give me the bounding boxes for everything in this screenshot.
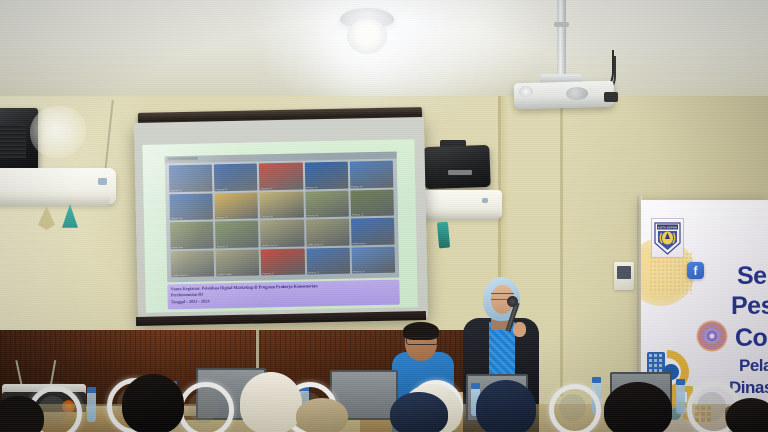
participant-tile: Peserta 06 bbox=[169, 193, 213, 220]
participant-name: Peserta 12 bbox=[262, 272, 274, 275]
audience-head bbox=[726, 398, 768, 432]
participant-name: UMKM Rizki bbox=[352, 242, 365, 245]
program-badge-icon bbox=[698, 322, 726, 350]
participant-name: Peserta 01 bbox=[170, 189, 182, 192]
ac-vent-left bbox=[0, 196, 110, 206]
participant-tile: Peserta 10 bbox=[350, 189, 394, 216]
facebook-icon[interactable]: f bbox=[687, 262, 704, 279]
slide-caption-box: Nama Kegiatan: Pelatihan Digital Marketi… bbox=[167, 280, 399, 310]
participant-tile: Peserta 03 bbox=[259, 163, 303, 190]
svg-text:KOTA DEPOK: KOTA DEPOK bbox=[658, 225, 679, 229]
participant-tile: Peserta 11 bbox=[215, 220, 259, 247]
audience-head-hijab bbox=[476, 380, 536, 432]
projector-lens bbox=[519, 86, 533, 97]
participant-name: Peserta 10 bbox=[352, 213, 364, 216]
participant-name: Peserta 02 bbox=[216, 188, 228, 191]
participant-name: Peserta 13 bbox=[308, 271, 320, 274]
tv-speaker-grill bbox=[0, 124, 26, 158]
participant-name: Peserta 07 bbox=[216, 216, 228, 219]
banner-subline-1: Pela bbox=[739, 356, 768, 376]
participant-tile: UMKM Sari at.. bbox=[260, 220, 304, 247]
participant-tile: UMKM Wadi A.. bbox=[171, 250, 215, 277]
water-bottle[interactable] bbox=[676, 384, 685, 414]
speaker-hand bbox=[513, 322, 526, 337]
participant-name: Ratna Sari bbox=[172, 246, 183, 249]
ring-light-center bbox=[697, 392, 726, 421]
participant-tile: Peserta 01 bbox=[169, 164, 213, 191]
participant-name: UMKM Sari at.. bbox=[262, 244, 278, 247]
bottle-cap bbox=[592, 377, 601, 383]
participant-name: Peserta 14 bbox=[353, 270, 365, 273]
audience-head bbox=[604, 382, 672, 432]
ring-light-center bbox=[188, 392, 219, 423]
banner-headline-2: Pes bbox=[731, 292, 768, 321]
ac-indicator-left bbox=[98, 178, 107, 185]
microphone-head bbox=[507, 296, 518, 307]
audience-head bbox=[122, 374, 184, 432]
bottle-cap bbox=[87, 387, 96, 393]
ceiling-light-bulb bbox=[347, 18, 387, 54]
participant-tile: UMKM Rizki bbox=[351, 218, 395, 245]
participant-tile: Peserta 05 bbox=[350, 161, 394, 188]
bottle-cap bbox=[676, 379, 685, 385]
audience-head-hijab bbox=[240, 372, 302, 432]
bottle-cap bbox=[471, 383, 480, 389]
ac-vent-right bbox=[422, 212, 500, 220]
speaker-box bbox=[423, 145, 490, 189]
participant-tile: Peserta 08 bbox=[260, 191, 304, 218]
ac-indicator-right bbox=[482, 198, 488, 203]
participant-tile: Peserta 13 bbox=[306, 247, 350, 274]
speaker-label bbox=[448, 170, 472, 175]
wall-panel-screen bbox=[617, 266, 631, 279]
projected-image: Peserta 01Peserta 02Peserta 03Peserta 04… bbox=[142, 139, 417, 313]
participant-name: Peserta 06 bbox=[171, 217, 183, 220]
participant-grid: Peserta 01Peserta 02Peserta 03Peserta 04… bbox=[169, 161, 395, 278]
audience-head bbox=[296, 398, 348, 432]
participant-name: Peserta 08 bbox=[261, 215, 273, 218]
participant-tile: Peserta 02 bbox=[214, 163, 258, 190]
participant-name: UMKM Anita K.. bbox=[307, 243, 324, 246]
participant-name: UMKM Wadi A.. bbox=[172, 274, 189, 277]
banner-headline-1: Se bbox=[737, 262, 767, 291]
kota-depok-emblem: KOTA DEPOK bbox=[651, 218, 684, 258]
participant-tile: Peserta 14 bbox=[351, 246, 395, 273]
seminar-room-photo: Peserta 01Peserta 02Peserta 03Peserta 04… bbox=[0, 0, 768, 432]
projector-connector bbox=[604, 92, 618, 102]
participant-name: Peserta 03 bbox=[261, 187, 273, 190]
participant-name: UMKM Jaktim bbox=[217, 273, 232, 276]
projection-screen: Peserta 01Peserta 02Peserta 03Peserta 04… bbox=[134, 117, 428, 323]
projector-vent bbox=[566, 87, 588, 100]
window-title bbox=[168, 157, 198, 161]
participant-tile: Peserta 04 bbox=[304, 162, 348, 189]
video-conference-window: Peserta 01Peserta 02Peserta 03Peserta 04… bbox=[165, 152, 400, 283]
participant-name: Peserta 11 bbox=[217, 245, 228, 248]
participant-tile: Peserta 09 bbox=[305, 190, 349, 217]
participant-name: Peserta 09 bbox=[306, 214, 318, 217]
water-bottle[interactable] bbox=[87, 392, 96, 422]
ring-light-center bbox=[559, 394, 586, 421]
remote-holder[interactable] bbox=[437, 222, 450, 249]
seated-man-glasses bbox=[406, 337, 438, 345]
audience-head-hijab bbox=[390, 392, 448, 432]
participant-tile: UMKM Anita K.. bbox=[306, 219, 350, 246]
participant-tile: Ratna Sari bbox=[170, 221, 214, 248]
participant-tile: Peserta 12 bbox=[261, 248, 305, 275]
projector-pole-band bbox=[554, 22, 569, 27]
participant-tile: UMKM Jaktim bbox=[216, 249, 260, 276]
participant-tile: Peserta 07 bbox=[215, 192, 259, 219]
participant-name: Peserta 04 bbox=[306, 186, 318, 189]
participant-name: Peserta 05 bbox=[351, 185, 363, 188]
banner-headline-3: Co bbox=[735, 324, 767, 353]
